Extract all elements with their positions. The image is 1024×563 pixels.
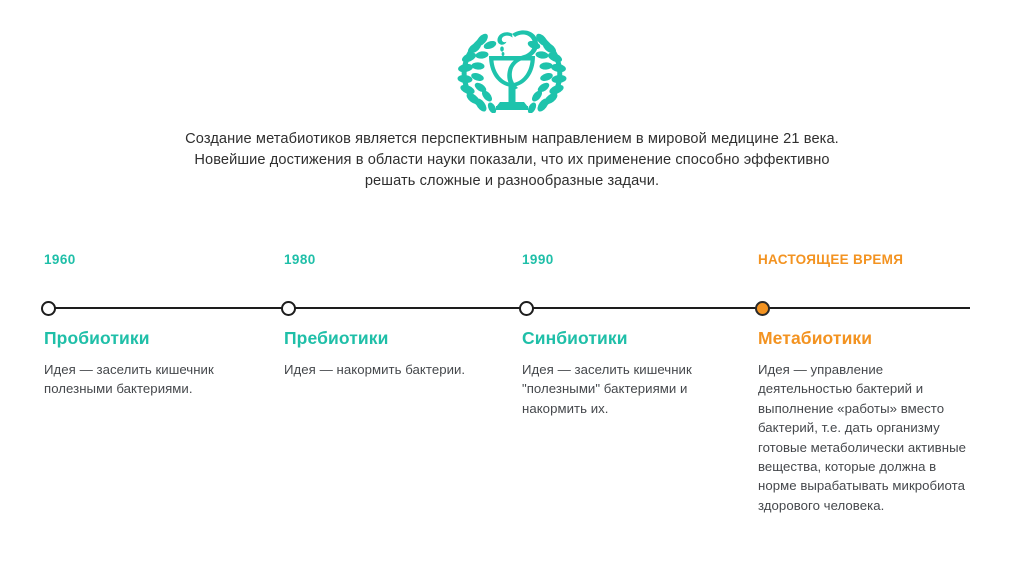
- timeline-year-label: 1990: [522, 252, 734, 267]
- timeline-item-metabiotics[interactable]: НАСТОЯЩЕЕ ВРЕМЯ Метабиотики Идея — управ…: [755, 252, 970, 267]
- timeline-item-title: Пребиотики: [284, 328, 388, 349]
- timeline-marker-hollow-icon[interactable]: [519, 301, 534, 316]
- timeline-item-description: Идея — управление деятельностью бактерий…: [758, 360, 970, 515]
- timeline: 1960 Пробиотики Идея — заселить кишечник…: [0, 252, 1024, 552]
- timeline-marker-hollow-icon[interactable]: [41, 301, 56, 316]
- logo-container: [0, 0, 1024, 113]
- timeline-item-title: Метабиотики: [758, 328, 872, 349]
- timeline-item-synbiotics[interactable]: 1990 Синбиотики Идея — заселить кишечник…: [519, 252, 734, 267]
- timeline-year-label-present: НАСТОЯЩЕЕ ВРЕМЯ: [758, 252, 970, 267]
- intro-paragraph: Создание метабиотиков является перспекти…: [162, 129, 862, 192]
- timeline-item-description: Идея — заселить кишечник "полезными" бак…: [522, 360, 734, 418]
- intro-line-1: Создание метабиотиков является перспекти…: [162, 129, 862, 150]
- timeline-item-title: Синбиотики: [522, 328, 628, 349]
- timeline-year-label: 1960: [44, 252, 256, 267]
- bowl-of-hygieia-laurel-wreath-icon: [452, 18, 572, 113]
- timeline-item-prebiotics[interactable]: 1980 Пребиотики Идея — накормить бактери…: [281, 252, 496, 267]
- timeline-year-label: 1980: [284, 252, 496, 267]
- timeline-item-probiotics[interactable]: 1960 Пробиотики Идея — заселить кишечник…: [41, 252, 256, 267]
- timeline-item-title: Пробиотики: [44, 328, 150, 349]
- timeline-marker-filled-icon[interactable]: [755, 301, 770, 316]
- intro-line-3: решать сложные и разнообразные задачи.: [162, 171, 862, 192]
- timeline-item-description: Идея — заселить кишечник полезными бакте…: [44, 360, 256, 399]
- timeline-axis-line: [48, 307, 970, 309]
- timeline-item-description: Идея — накормить бактерии.: [284, 360, 496, 379]
- intro-line-2: Новейшие достижения в области науки пока…: [162, 150, 862, 171]
- timeline-marker-hollow-icon[interactable]: [281, 301, 296, 316]
